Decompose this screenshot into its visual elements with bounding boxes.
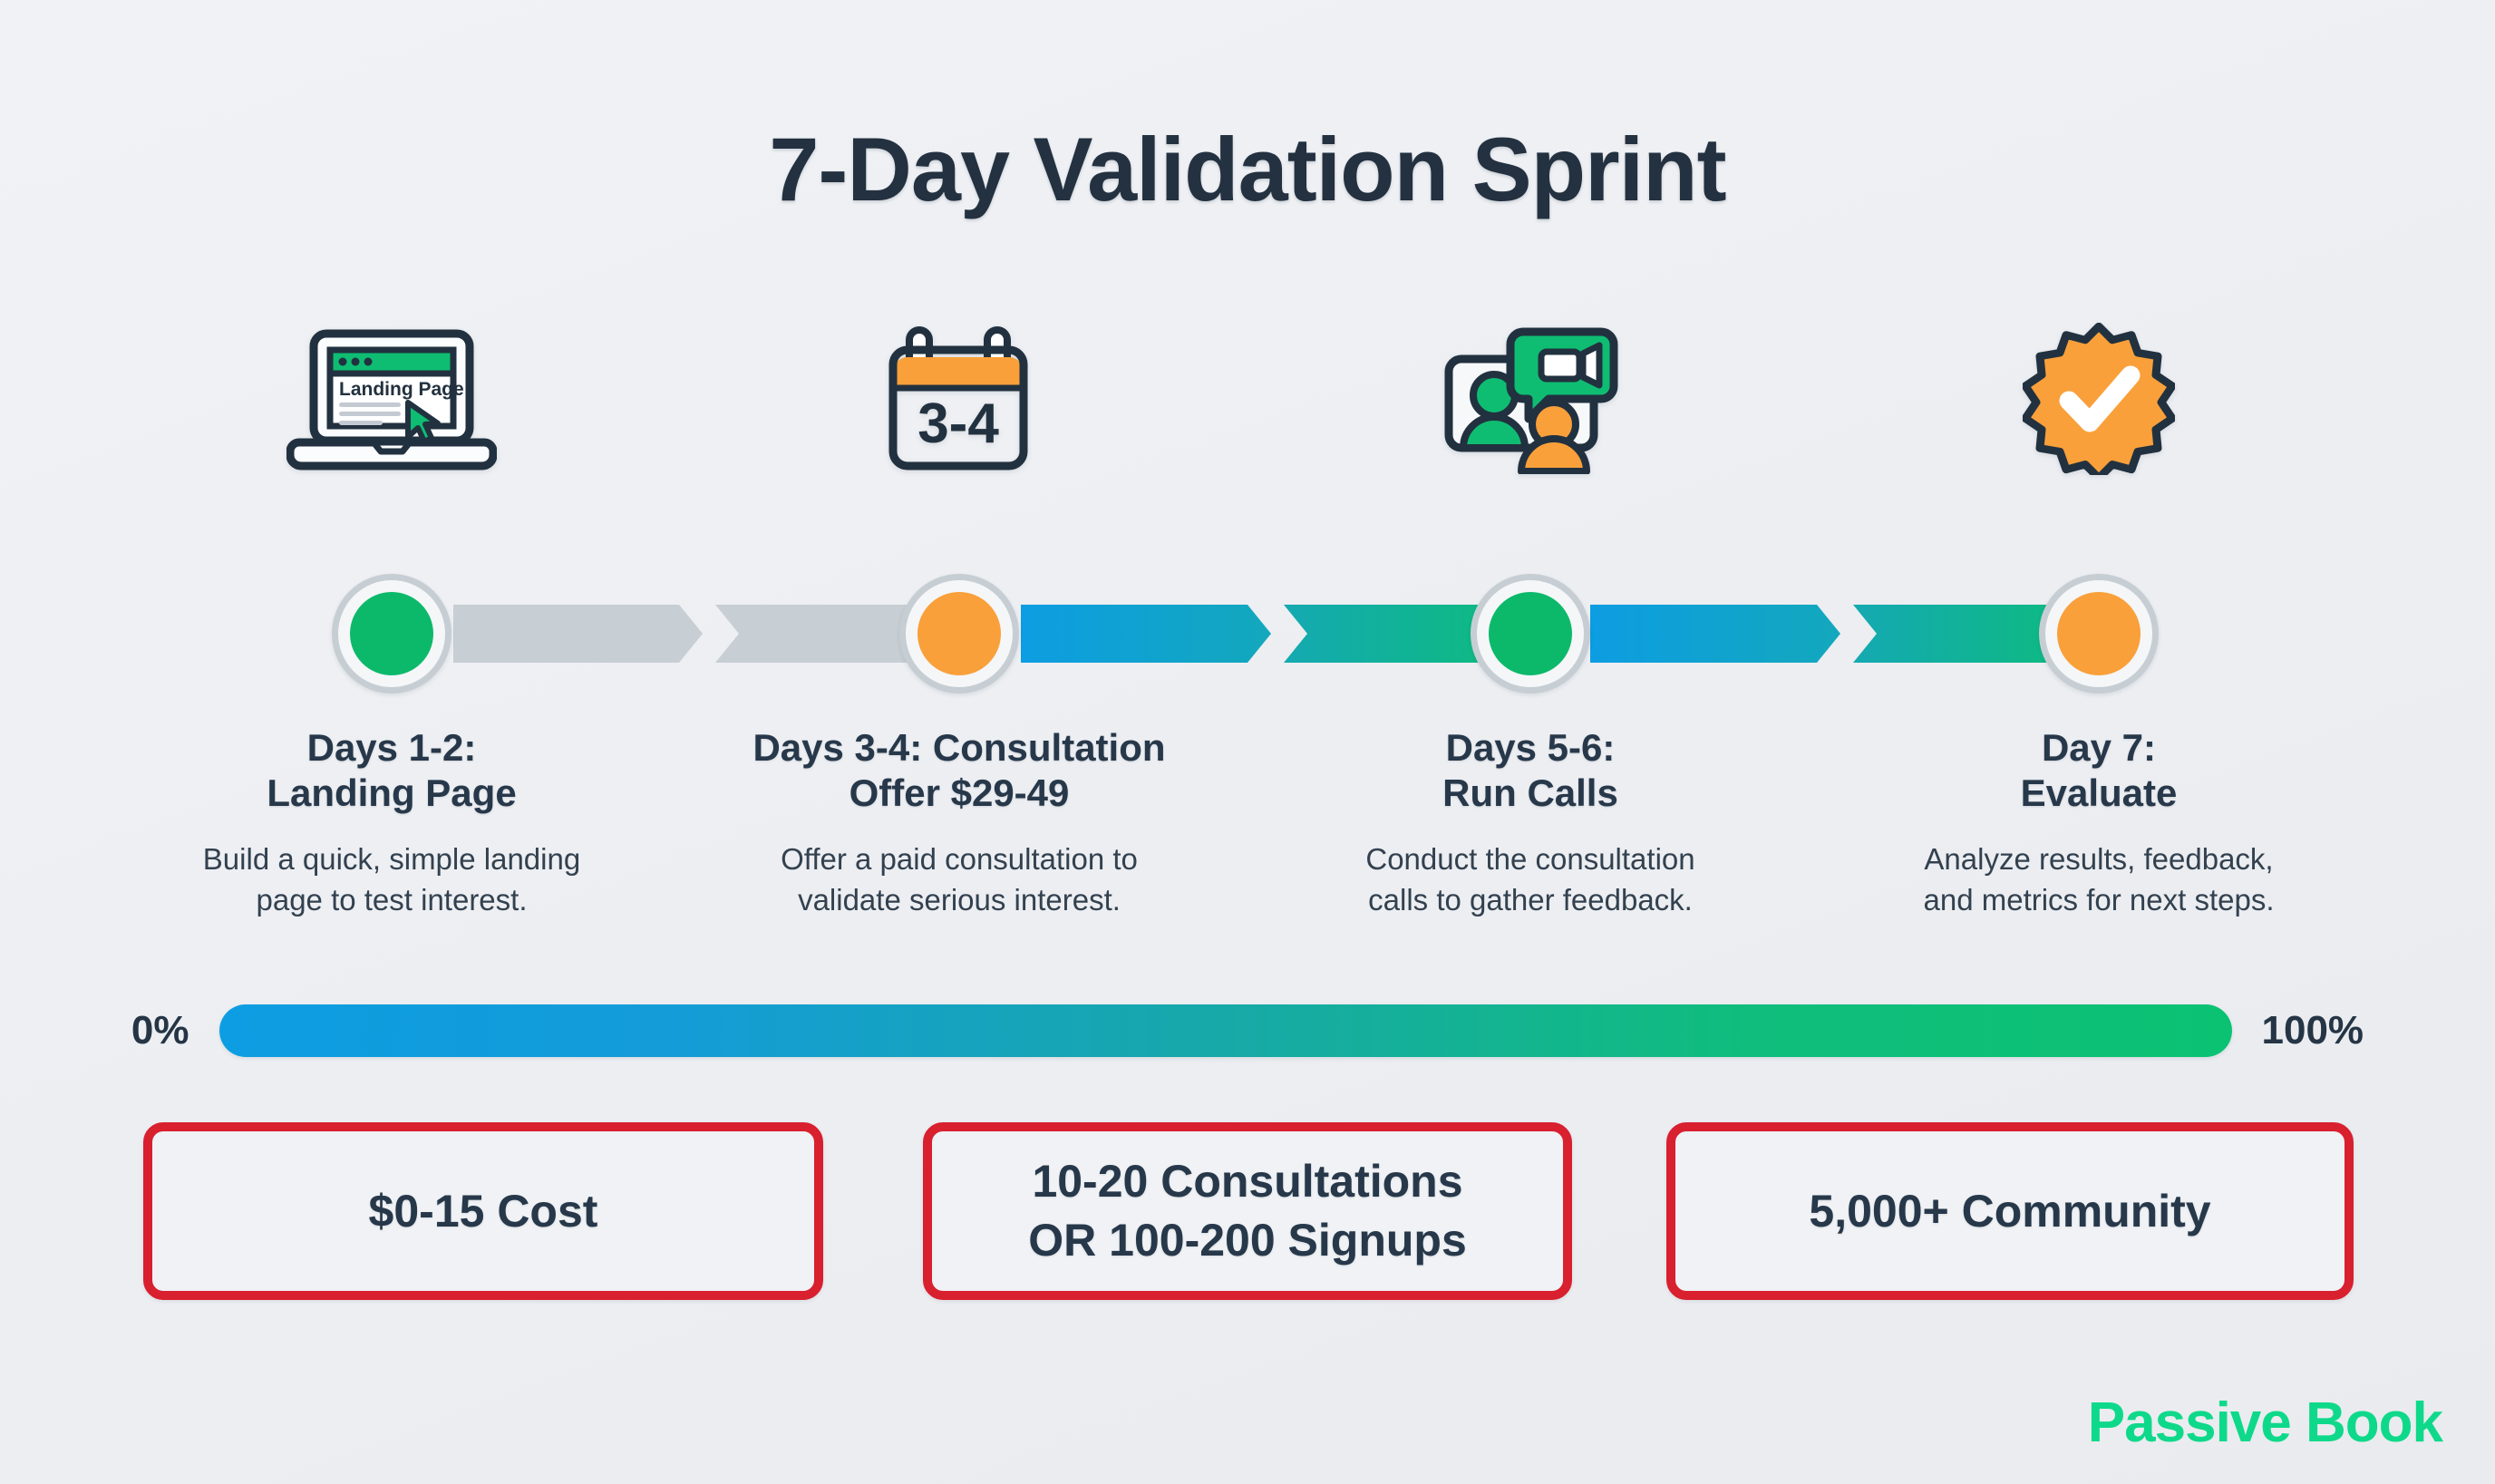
progress-end-label: 100% <box>2262 1008 2364 1053</box>
connector-1 <box>453 605 965 663</box>
page-title: 7-Day Validation Sprint <box>0 118 2495 221</box>
step-description: Conduct the consultation calls to gather… <box>1277 839 1784 921</box>
step-title: Day 7: Evaluate <box>1845 725 2353 815</box>
step-2: Days 3-4: Consultation Offer $29-49 Offe… <box>705 725 1213 921</box>
metric-label: 10-20 Consultations OR 100-200 Signups <box>1028 1152 1467 1270</box>
progress-bar <box>219 1004 2232 1057</box>
metric-box-consultations: 10-20 Consultations OR 100-200 Signups <box>923 1122 1572 1300</box>
video-call-icon <box>1413 317 1648 480</box>
calendar-icon: 3-4 <box>841 317 1077 480</box>
timeline-node-1[interactable] <box>332 574 451 694</box>
progress-start-label: 0% <box>131 1008 189 1053</box>
metric-label: 5,000+ Community <box>1809 1182 2210 1241</box>
laptop-landing-page-icon: Landing Page <box>274 317 510 480</box>
connector-2 <box>1021 605 1534 663</box>
step-1: Days 1-2: Landing Page Build a quick, si… <box>138 725 646 921</box>
metric-box-cost: $0-15 Cost <box>143 1122 823 1300</box>
step-title: Days 5-6: Run Calls <box>1277 725 1784 815</box>
timeline: Landing Page 3-4 <box>0 299 2495 725</box>
metric-label: $0-15 Cost <box>369 1182 598 1241</box>
step-description: Build a quick, simple landing page to te… <box>138 839 646 921</box>
timeline-node-3[interactable] <box>1471 574 1590 694</box>
step-4: Day 7: Evaluate Analyze results, feedbac… <box>1845 725 2353 921</box>
step-description: Analyze results, feedback, and metrics f… <box>1845 839 2353 921</box>
metrics-row: $0-15 Cost 10-20 Consultations OR 100-20… <box>0 1122 2495 1304</box>
metric-box-community: 5,000+ Community <box>1666 1122 2354 1300</box>
node-dot <box>917 592 1001 675</box>
node-dot <box>2057 592 2141 675</box>
brand-logo: Passive Book <box>2088 1391 2442 1455</box>
svg-text:3-4: 3-4 <box>917 393 999 455</box>
step-title: Days 3-4: Consultation Offer $29-49 <box>705 725 1213 815</box>
step-description: Offer a paid consultation to validate se… <box>705 839 1213 921</box>
node-dot <box>350 592 433 675</box>
step-title: Days 1-2: Landing Page <box>138 725 646 815</box>
timeline-node-4[interactable] <box>2039 574 2159 694</box>
step-3: Days 5-6: Run Calls Conduct the consulta… <box>1277 725 1784 921</box>
verified-badge-icon <box>1981 317 2217 480</box>
timeline-node-2[interactable] <box>899 574 1019 694</box>
node-dot <box>1489 592 1572 675</box>
infographic-canvas: 7-Day Validation Sprint Landing Page <box>0 0 2495 1484</box>
svg-text:Landing Page: Landing Page <box>339 379 464 400</box>
progress-row: 0% 100% <box>0 1004 2495 1057</box>
connector-3 <box>1590 605 2103 663</box>
